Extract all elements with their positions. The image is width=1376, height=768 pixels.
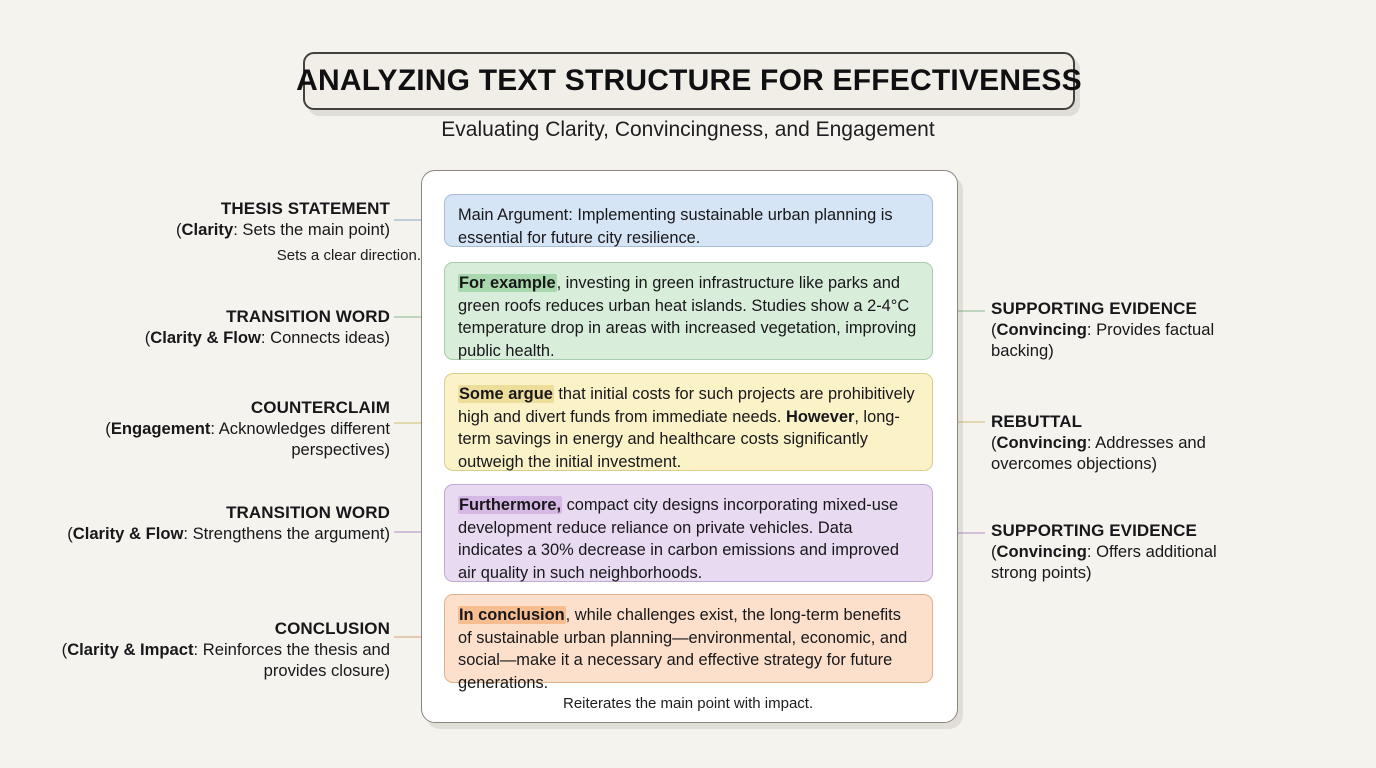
block-thesis-text: Main Argument: Implementing sustainable … bbox=[458, 206, 893, 247]
annotation-tag: Clarity & Flow bbox=[73, 524, 184, 543]
bold-however: However bbox=[786, 408, 854, 426]
annotation-transition-word-1: TRANSITION WORD (Clarity & Flow: Connect… bbox=[70, 306, 390, 348]
highlight-furthermore: Furthermore, bbox=[458, 496, 562, 514]
block-counterclaim[interactable]: Some argue that initial costs for such p… bbox=[444, 373, 933, 471]
annotation-heading: COUNTERCLAIM bbox=[60, 397, 390, 418]
annotation-sub: (Clarity & Flow: Strengthens the argumen… bbox=[60, 523, 390, 544]
annotation-heading: THESIS STATEMENT bbox=[70, 198, 390, 219]
annotation-rebuttal: REBUTTAL (Convincing: Addresses and over… bbox=[991, 411, 1251, 474]
annotation-tag: Convincing bbox=[997, 433, 1087, 452]
annotation-heading: TRANSITION WORD bbox=[60, 502, 390, 523]
annotation-rest: : Reinforces the thesis and provides clo… bbox=[194, 640, 390, 680]
annotation-counterclaim: COUNTERCLAIM (Engagement: Acknowledges d… bbox=[60, 397, 390, 460]
block-conclusion[interactable]: In conclusion, while challenges exist, t… bbox=[444, 594, 933, 683]
annotation-sub: (Engagement: Acknowledges different pers… bbox=[60, 418, 390, 460]
highlight-in-conclusion: In conclusion bbox=[458, 606, 566, 624]
leader-label-bottom: Reiterates the main point with impact. bbox=[563, 695, 863, 712]
annotation-tag: Convincing bbox=[997, 542, 1087, 561]
annotation-tag: Clarity & Impact bbox=[67, 640, 193, 659]
page-title: ANALYZING TEXT STRUCTURE FOR EFFECTIVENE… bbox=[296, 64, 1082, 98]
page-title-box: ANALYZING TEXT STRUCTURE FOR EFFECTIVENE… bbox=[303, 52, 1075, 110]
annotation-sub: (Clarity & Impact: Reinforces the thesis… bbox=[50, 639, 390, 681]
annotation-supporting-evidence-2: SUPPORTING EVIDENCE (Convincing: Offers … bbox=[991, 520, 1256, 583]
annotation-rest: : Sets the main point) bbox=[233, 220, 390, 239]
annotation-supporting-evidence-1: SUPPORTING EVIDENCE (Convincing: Provide… bbox=[991, 298, 1251, 361]
annotation-rest: : Connects ideas) bbox=[261, 328, 390, 347]
annotation-sub: (Clarity: Sets the main point) bbox=[70, 219, 390, 240]
block-supporting-evidence-2[interactable]: Furthermore, compact city designs incorp… bbox=[444, 484, 933, 582]
annotation-heading: SUPPORTING EVIDENCE bbox=[991, 520, 1256, 541]
annotation-heading: TRANSITION WORD bbox=[70, 306, 390, 327]
annotation-tag: Convincing bbox=[997, 320, 1087, 339]
annotation-conclusion: CONCLUSION (Clarity & Impact: Reinforces… bbox=[50, 618, 390, 681]
annotation-heading: REBUTTAL bbox=[991, 411, 1251, 432]
annotation-tag: Clarity bbox=[182, 220, 234, 239]
annotation-rest: : Strengthens the argument) bbox=[183, 524, 390, 543]
block-supporting-evidence-1[interactable]: For example, investing in green infrastr… bbox=[444, 262, 933, 360]
annotation-transition-word-2: TRANSITION WORD (Clarity & Flow: Strengt… bbox=[60, 502, 390, 544]
annotation-rest: : Acknowledges different perspectives) bbox=[210, 419, 390, 459]
diagram-canvas: ANALYZING TEXT STRUCTURE FOR EFFECTIVENE… bbox=[0, 0, 1376, 768]
annotation-heading: SUPPORTING EVIDENCE bbox=[991, 298, 1251, 319]
leader-label-top: Sets a clear direction. bbox=[241, 247, 421, 264]
annotation-thesis-statement: THESIS STATEMENT (Clarity: Sets the main… bbox=[70, 198, 390, 240]
highlight-for-example: For example bbox=[458, 274, 557, 292]
block-thesis-statement[interactable]: Main Argument: Implementing sustainable … bbox=[444, 194, 933, 247]
annotation-sub: (Clarity & Flow: Connects ideas) bbox=[70, 327, 390, 348]
annotation-heading: CONCLUSION bbox=[50, 618, 390, 639]
annotation-sub: (Convincing: Addresses and overcomes obj… bbox=[991, 432, 1251, 474]
highlight-some-argue: Some argue bbox=[458, 385, 554, 403]
annotation-tag: Clarity & Flow bbox=[150, 328, 261, 347]
annotation-sub: (Convincing: Offers additional strong po… bbox=[991, 541, 1256, 583]
annotation-tag: Engagement bbox=[111, 419, 211, 438]
annotation-sub: (Convincing: Provides factual backing) bbox=[991, 319, 1251, 361]
page-subtitle: Evaluating Clarity, Convincingness, and … bbox=[0, 118, 1376, 142]
